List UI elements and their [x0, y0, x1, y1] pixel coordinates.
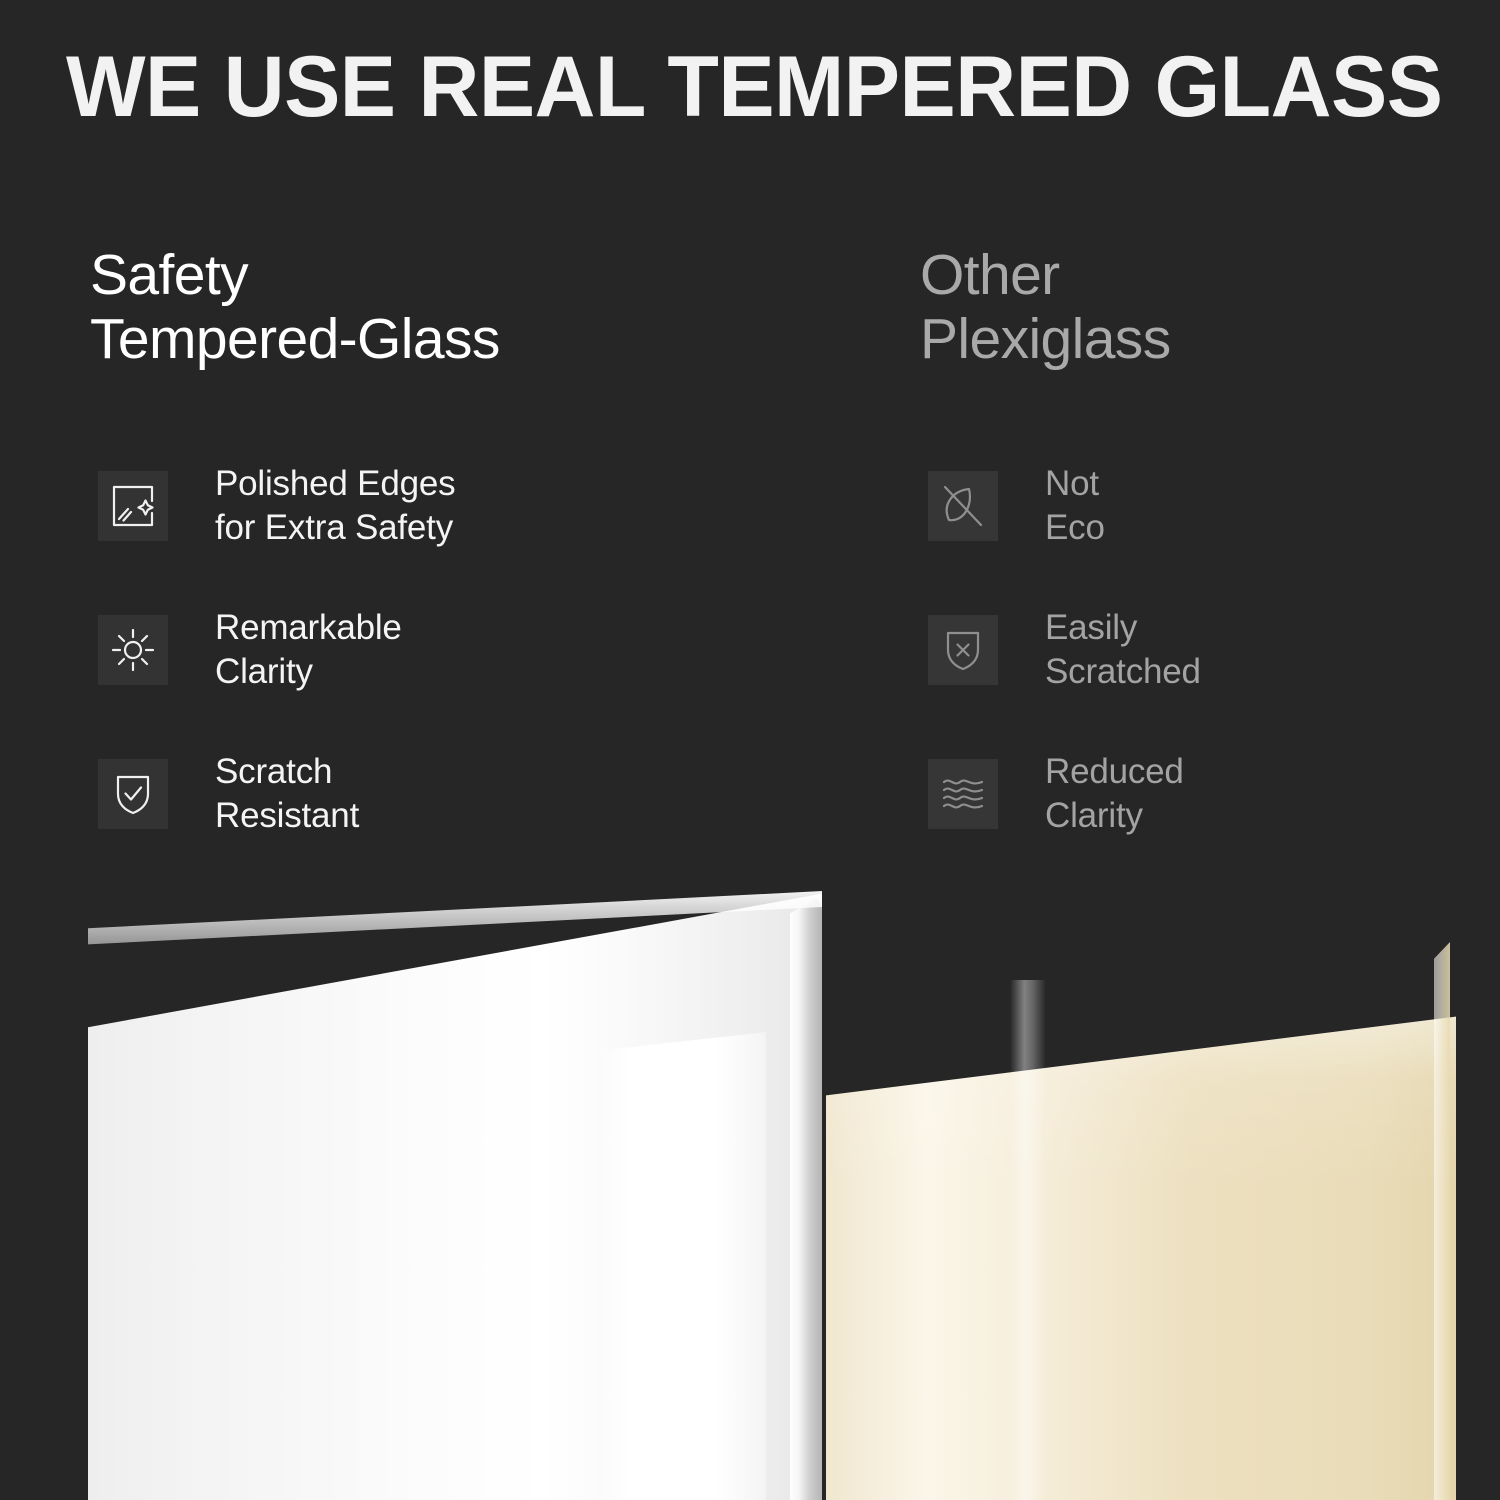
product-panel-group	[0, 860, 1500, 1500]
feature-row-scratch-resistant: Scratch Resistant	[98, 758, 838, 830]
plexiglass-panel-image	[826, 938, 1456, 1500]
feature-list-left: Polished Edges for Extra Safety Remarkab…	[98, 470, 838, 830]
wavy-lines-icon	[928, 759, 998, 829]
column-heading-right: Other Plexiglass	[920, 243, 1480, 371]
feature-label-remarkable-clarity: Remarkable Clarity	[215, 606, 402, 694]
comparison-infographic: WE USE REAL TEMPERED GLASS Safety Temper…	[0, 0, 1500, 1500]
plexiglass-panel-edge	[1434, 942, 1450, 1500]
feature-row-easily-scratched: Easily Scratched	[928, 614, 1488, 686]
column-safety-tempered-glass: Safety Tempered-Glass Polished Edges for…	[90, 243, 830, 371]
sun-brightness-icon	[98, 615, 168, 685]
tempered-glass-panel-reflection	[598, 1032, 766, 1500]
feature-row-remarkable-clarity: Remarkable Clarity	[98, 614, 838, 686]
feature-label-not-eco: Not Eco	[1045, 462, 1105, 550]
tempered-glass-panel-edge	[790, 894, 822, 1500]
plexiglass-panel-sheen	[1010, 980, 1046, 1500]
feature-label-easily-scratched: Easily Scratched	[1045, 606, 1201, 694]
feature-label-scratch-resistant: Scratch Resistant	[215, 750, 359, 838]
column-other-plexiglass: Other Plexiglass Not Eco	[920, 243, 1480, 371]
leaf-slashed-icon	[928, 471, 998, 541]
feature-list-right: Not Eco Easily Scratched	[928, 470, 1488, 830]
feature-row-not-eco: Not Eco	[928, 470, 1488, 542]
feature-row-polished-edges: Polished Edges for Extra Safety	[98, 470, 838, 542]
page-title: WE USE REAL TEMPERED GLASS	[66, 44, 1418, 130]
shield-check-icon	[98, 759, 168, 829]
polished-glass-pane-sparkle-icon	[98, 471, 168, 541]
feature-label-reduced-clarity: Reduced Clarity	[1045, 750, 1184, 838]
feature-row-reduced-clarity: Reduced Clarity	[928, 758, 1488, 830]
shield-x-icon	[928, 615, 998, 685]
feature-label-polished-edges: Polished Edges for Extra Safety	[215, 462, 455, 550]
column-heading-left: Safety Tempered-Glass	[90, 243, 830, 371]
